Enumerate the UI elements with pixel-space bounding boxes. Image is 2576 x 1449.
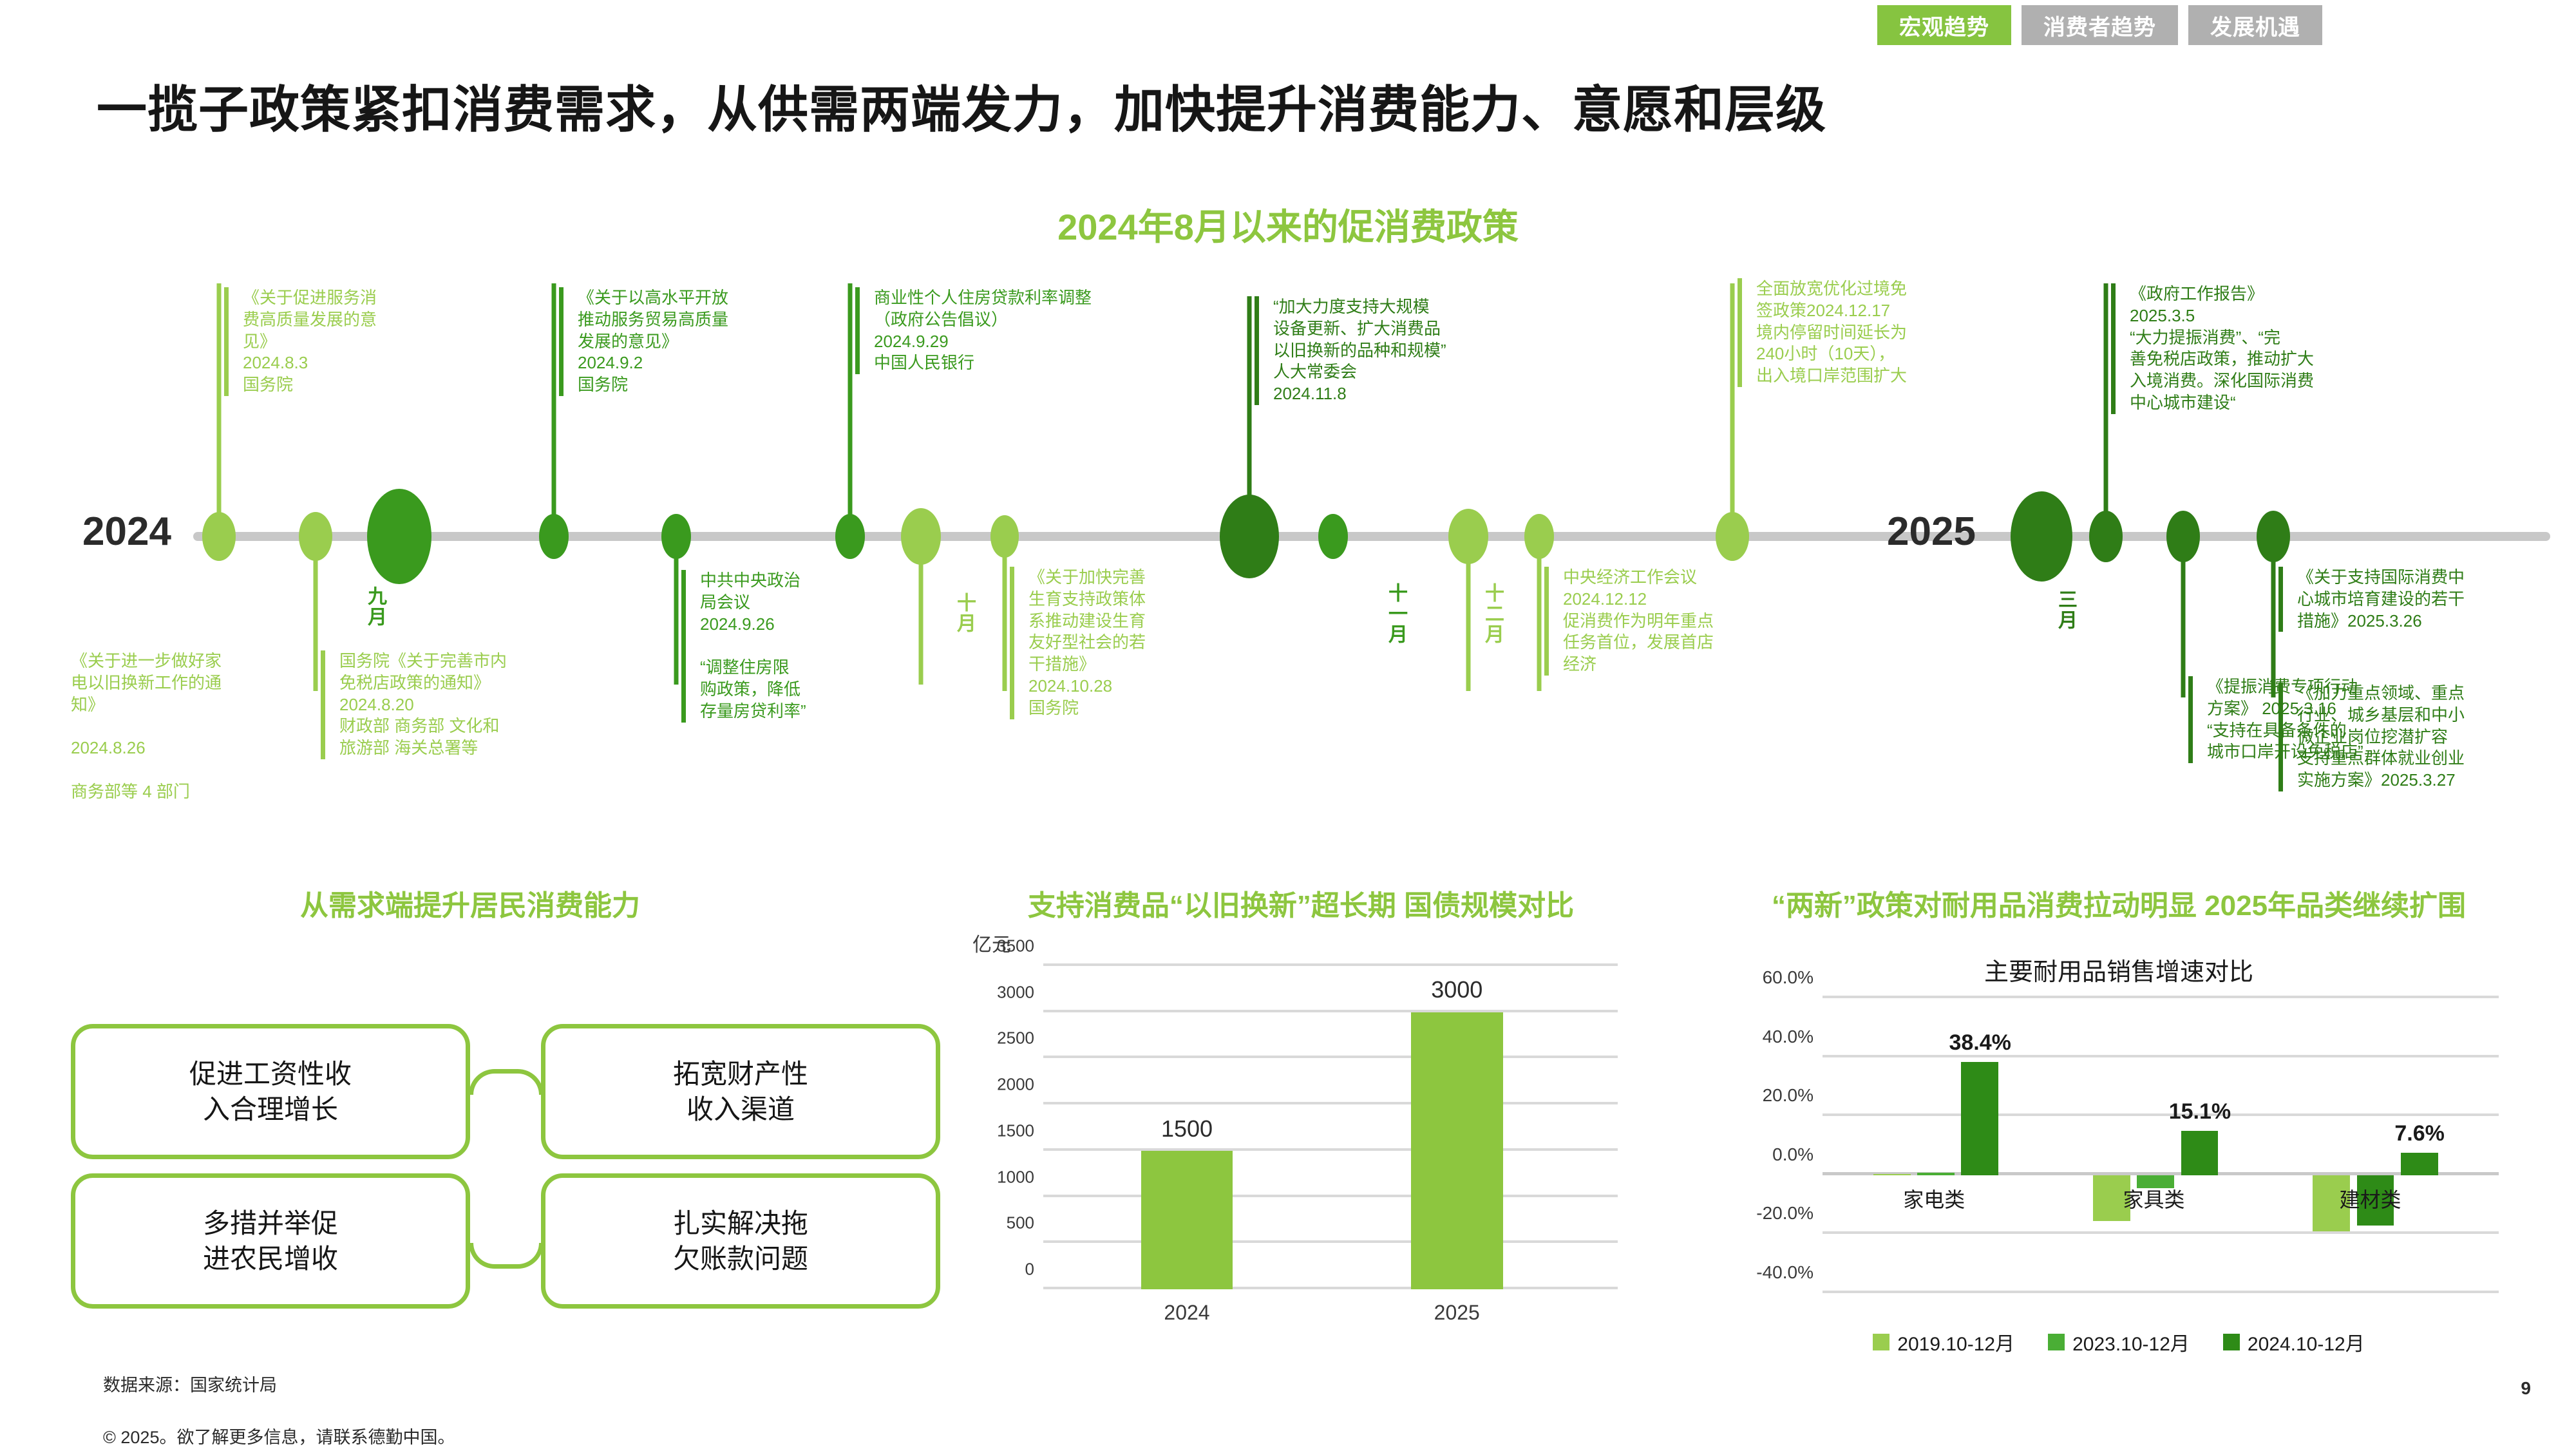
policy-card-2024-10-28[interactable]: 《关于加快完善 生育支持政策体 系推动建设生育 友好型社会的若 干措施》 202… [1010, 567, 1203, 719]
flowchart-title: 从需求端提升居民消费能力 [180, 887, 760, 924]
chart-a-ytick: 0 [1025, 1260, 1034, 1280]
tab-label: 发展机遇 [2210, 10, 2300, 41]
footer-source: 数据来源：国家统计局 © 2025。欲了解更多信息，请联系德勤中国。 [103, 1346, 455, 1449]
chart-a-value-label: 3000 [1431, 976, 1482, 1003]
legend-label: 2024.10-12月 [2248, 1328, 2365, 1356]
tab-label: 消费者趋势 [2043, 10, 2156, 41]
chart-b-ytick: 20.0% [1763, 1085, 1814, 1106]
chart-b-bar-furniture-2024[interactable] [2181, 1131, 2219, 1175]
policy-card-2024-08-26[interactable]: 《关于进一步做好家 电以旧换新工作的通 知》 2024.8.26 商务部等 4 … [71, 650, 309, 803]
flowchart-box-wage-income[interactable]: 促进工资性收 入合理增长 [71, 1024, 470, 1159]
chart-b-data-label: 38.4% [1949, 1030, 2011, 1056]
page-number: 9 [2521, 1378, 2531, 1399]
chart-b-category-label: 建材类 [2339, 1184, 2401, 1213]
chart-a-xtick: 2025 [1434, 1301, 1480, 1325]
chart-b-category-label: 家电类 [1903, 1184, 1965, 1213]
chart-b-ytick: -40.0% [1756, 1262, 1814, 1283]
flowchart-box-property-income[interactable]: 拓宽财产性 收入渠道 [541, 1024, 940, 1159]
copyright-text: © 2025。欲了解更多信息，请联系德勤中国。 [103, 1425, 455, 1449]
flowchart-box-farmer-income[interactable]: 多措并举促 进农民增收 [71, 1173, 470, 1309]
chart-a-xtick: 2024 [1164, 1301, 1209, 1325]
data-source-text: 数据来源：国家统计局 [103, 1372, 455, 1399]
policy-card-2024-12-17[interactable]: 全面放宽优化过境免 签政策2024.12.17 境内停留时间延长为 240小时（… [1738, 278, 2014, 387]
legend-item-2024[interactable]: 2024.10-12月 [2223, 1328, 2365, 1356]
flowchart-connector-top [469, 1069, 544, 1095]
legend-swatch-icon [2223, 1334, 2240, 1350]
section-heading: 2024年8月以来的促消费政策 [0, 198, 2576, 251]
flowchart-box-label: 多措并举促 进农民增收 [203, 1206, 338, 1277]
flowchart-box-label: 拓宽财产性 收入渠道 [673, 1056, 808, 1128]
chart-b-bar-appliances-2019[interactable] [1873, 1174, 1911, 1175]
chart-b-data-label: 15.1% [2169, 1099, 2231, 1124]
legend-swatch-icon [1873, 1334, 1889, 1350]
tab-consumer-trends[interactable]: 消费者趋势 [2022, 5, 2178, 45]
chart-b-subtitle: 主要耐用品销售增速对比 [1726, 952, 2512, 987]
chart-a-bar-2024[interactable] [1141, 1151, 1233, 1289]
chart-a-ytick: 1000 [997, 1167, 1034, 1187]
chart-b-ytick: -20.0% [1756, 1203, 1814, 1224]
policy-card-2025-03-26[interactable]: 《关于支持国际消费中 心城市培育建设的若干 措施》2025.3.26 [2278, 567, 2555, 632]
timeline-year-2025: 2025 [1887, 509, 1976, 554]
policy-card-2024-08-03[interactable]: 《关于促进服务消 费高质量发展的意 见》 2024.8.3 国务院 [224, 287, 392, 396]
page-title: 一揽子政策紧扣消费需求，从供需两端发力，加快提升消费能力、意愿和层级 [97, 70, 2479, 142]
chart-b-bar-appliances-2023[interactable] [1917, 1173, 1955, 1175]
chart-a-ytick: 2000 [997, 1075, 1034, 1095]
chart-b-ytick: 0.0% [1772, 1144, 1814, 1165]
policy-card-2024-09-02[interactable]: 《关于以高水平开放 推动服务贸易高质量 发展的意见》 2024.9.2 国务院 [559, 287, 765, 396]
flowchart-box-label: 扎实解决拖 欠账款问题 [673, 1206, 808, 1277]
legend-item-2023[interactable]: 2023.10-12月 [2048, 1328, 2190, 1356]
legend-swatch-icon [2048, 1334, 2065, 1350]
timeline-year-2024: 2024 [82, 509, 171, 554]
chart-b-bar-appliances-2024[interactable] [1961, 1062, 1998, 1175]
flowchart-connector-bottom [469, 1243, 544, 1269]
timeline-month-november: 十一月 [1381, 583, 1410, 645]
tab-label: 宏观趋势 [1899, 10, 1989, 41]
policy-card-2024-09-26[interactable]: 中共中央政治 局会议 2024.9.26 “调整住房限 购政策，降低 存量房贷利… [681, 570, 875, 723]
chart-a-ytick: 1500 [997, 1121, 1034, 1141]
chart-b-ytick: 40.0% [1763, 1027, 1814, 1047]
chart-a-value-label: 1500 [1161, 1115, 1213, 1142]
chart-bond-scale: 亿元 0 500 1000 1500 2000 2500 3000 3500 1… [972, 953, 1629, 1340]
chart-b-title: “两新”政策对耐用品消费拉动明显 2025年品类继续扩围 [1739, 887, 2499, 924]
chart-durable-goods-growth: 主要耐用品销售增速对比 -40.0% -20.0% 0.0% 20.0% 40.… [1726, 992, 2512, 1352]
legend-label: 2019.10-12月 [1897, 1328, 2014, 1356]
chart-b-category-label: 家具类 [2123, 1184, 2184, 1213]
chart-a-title: 支持消费品“以旧换新”超长期 国债规模对比 [992, 887, 1610, 924]
policy-card-2024-12-12[interactable]: 中央经济工作会议 2024.12.12 促消费作为明年重点 任务首位，发展首店 … [1544, 567, 1783, 676]
tab-bar: 宏观趋势 消费者趋势 发展机遇 [1877, 5, 2322, 45]
chart-b-plot: -40.0% -20.0% 0.0% 20.0% 40.0% 60.0% 38.… [1823, 998, 2499, 1293]
policy-card-2024-08-20[interactable]: 国务院《关于完善市内 免税店政策的通知》 2024.8.20 财政部 商务部 文… [321, 650, 591, 759]
timeline-month-march: 三月 [2051, 589, 2079, 630]
chart-b-bar-building-2024[interactable] [2401, 1153, 2438, 1175]
slide-root: 宏观趋势 消费者趋势 发展机遇 一揽子政策紧扣消费需求，从供需两端发力，加快提升… [0, 0, 2576, 1449]
chart-b-ytick: 60.0% [1763, 967, 1814, 988]
chart-a-ytick: 3500 [997, 936, 1034, 956]
policy-card-2024-11-08[interactable]: “加大力度支持大规模 设备更新、扩大消费品 以旧换新的品种和规模” 人大常委会 … [1255, 296, 1557, 405]
legend-item-2019[interactable]: 2019.10-12月 [1873, 1328, 2014, 1356]
chart-a-ytick: 500 [1007, 1213, 1034, 1233]
chart-a-ytick: 3000 [997, 982, 1034, 1002]
policy-card-2025-03-05[interactable]: 《政府工作报告》 2025.3.5 “大力提振消费”、“完 善免税店政策，推动扩… [2111, 283, 2420, 414]
policy-card-2025-03-27[interactable]: 《加力重点领域、重点 行业、城乡基层和中小 微企业岗位挖潜扩容 支持重点群体就业… [2278, 683, 2555, 791]
chart-a-bar-2025[interactable] [1411, 1012, 1503, 1289]
flowchart-box-label: 促进工资性收 入合理增长 [189, 1056, 352, 1128]
timeline-month-december: 十二月 [1478, 583, 1506, 645]
timeline-month-september: 九月 [361, 586, 389, 627]
tab-macro-trends[interactable]: 宏观趋势 [1877, 5, 2011, 45]
chart-b-data-label: 7.6% [2394, 1121, 2445, 1146]
chart-a-plot: 0 500 1000 1500 2000 2500 3000 3500 1500… [1043, 966, 1618, 1289]
chart-a-ytick: 2500 [997, 1028, 1034, 1048]
legend-label: 2023.10-12月 [2072, 1328, 2190, 1356]
flowchart-box-arrears[interactable]: 扎实解决拖 欠账款问题 [541, 1173, 940, 1309]
policy-card-2024-09-29[interactable]: 商业性个人住房贷款利率调整 （政府公告倡议） 2024.9.29 中国人民银行 [855, 287, 1267, 374]
tab-development-opportunities[interactable]: 发展机遇 [2188, 5, 2322, 45]
timeline-month-october: 十月 [950, 592, 978, 634]
chart-b-legend: 2019.10-12月 2023.10-12月 2024.10-12月 [1726, 1328, 2512, 1356]
